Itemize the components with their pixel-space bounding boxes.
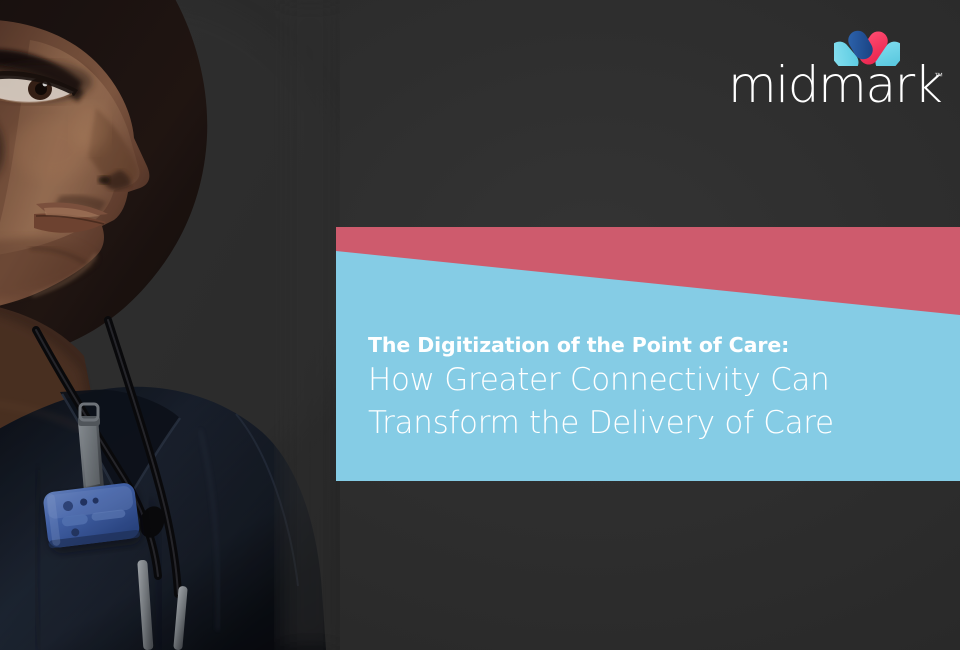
hero-banner-slide: midmark ™ The Digitization of the Point …: [0, 0, 960, 650]
banner-text-block: The Digitization of the Point of Care: H…: [368, 332, 948, 444]
trademark-symbol: ™: [934, 72, 943, 81]
nurse-portrait-illustration: [0, 0, 340, 650]
hero-photo: [0, 0, 340, 650]
svg-text:midmark: midmark: [728, 60, 942, 112]
midmark-logo[interactable]: midmark ™: [728, 26, 948, 112]
title-banner: The Digitization of the Point of Care: H…: [336, 227, 960, 481]
banner-title-line-2: Transform the Delivery of Care: [368, 402, 948, 444]
banner-title-line-1: How Greater Connectivity Can: [368, 359, 948, 401]
midmark-wordmark: midmark: [728, 60, 948, 112]
banner-eyebrow: The Digitization of the Point of Care:: [368, 332, 948, 359]
